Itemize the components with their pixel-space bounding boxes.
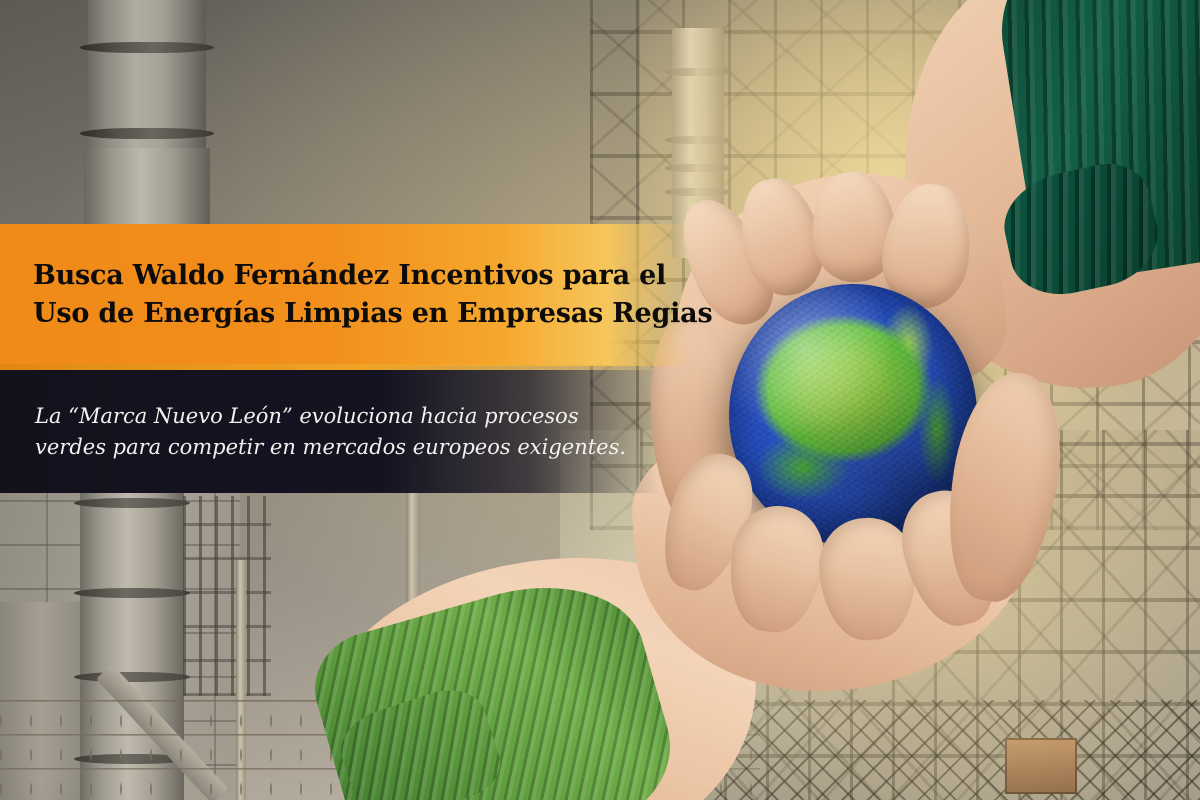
news-banner-graphic: Busca Waldo Fernández Incentivos para el… [0, 0, 1200, 800]
headline-line-1: Busca Waldo Fernández Incentivos para el [0, 257, 690, 295]
subheadline-line-1: La “Marca Nuevo León” evoluciona hacia p… [0, 401, 660, 432]
subheadline-band: La “Marca Nuevo León” evoluciona hacia p… [0, 370, 660, 493]
subheadline-line-2: verdes para competir en mercados europeo… [0, 432, 660, 463]
headline-band: Busca Waldo Fernández Incentivos para el… [0, 224, 690, 366]
pipe-rack-icon [183, 496, 271, 696]
headline-line-2: Uso de Energías Limpias en Empresas Regi… [0, 295, 690, 333]
